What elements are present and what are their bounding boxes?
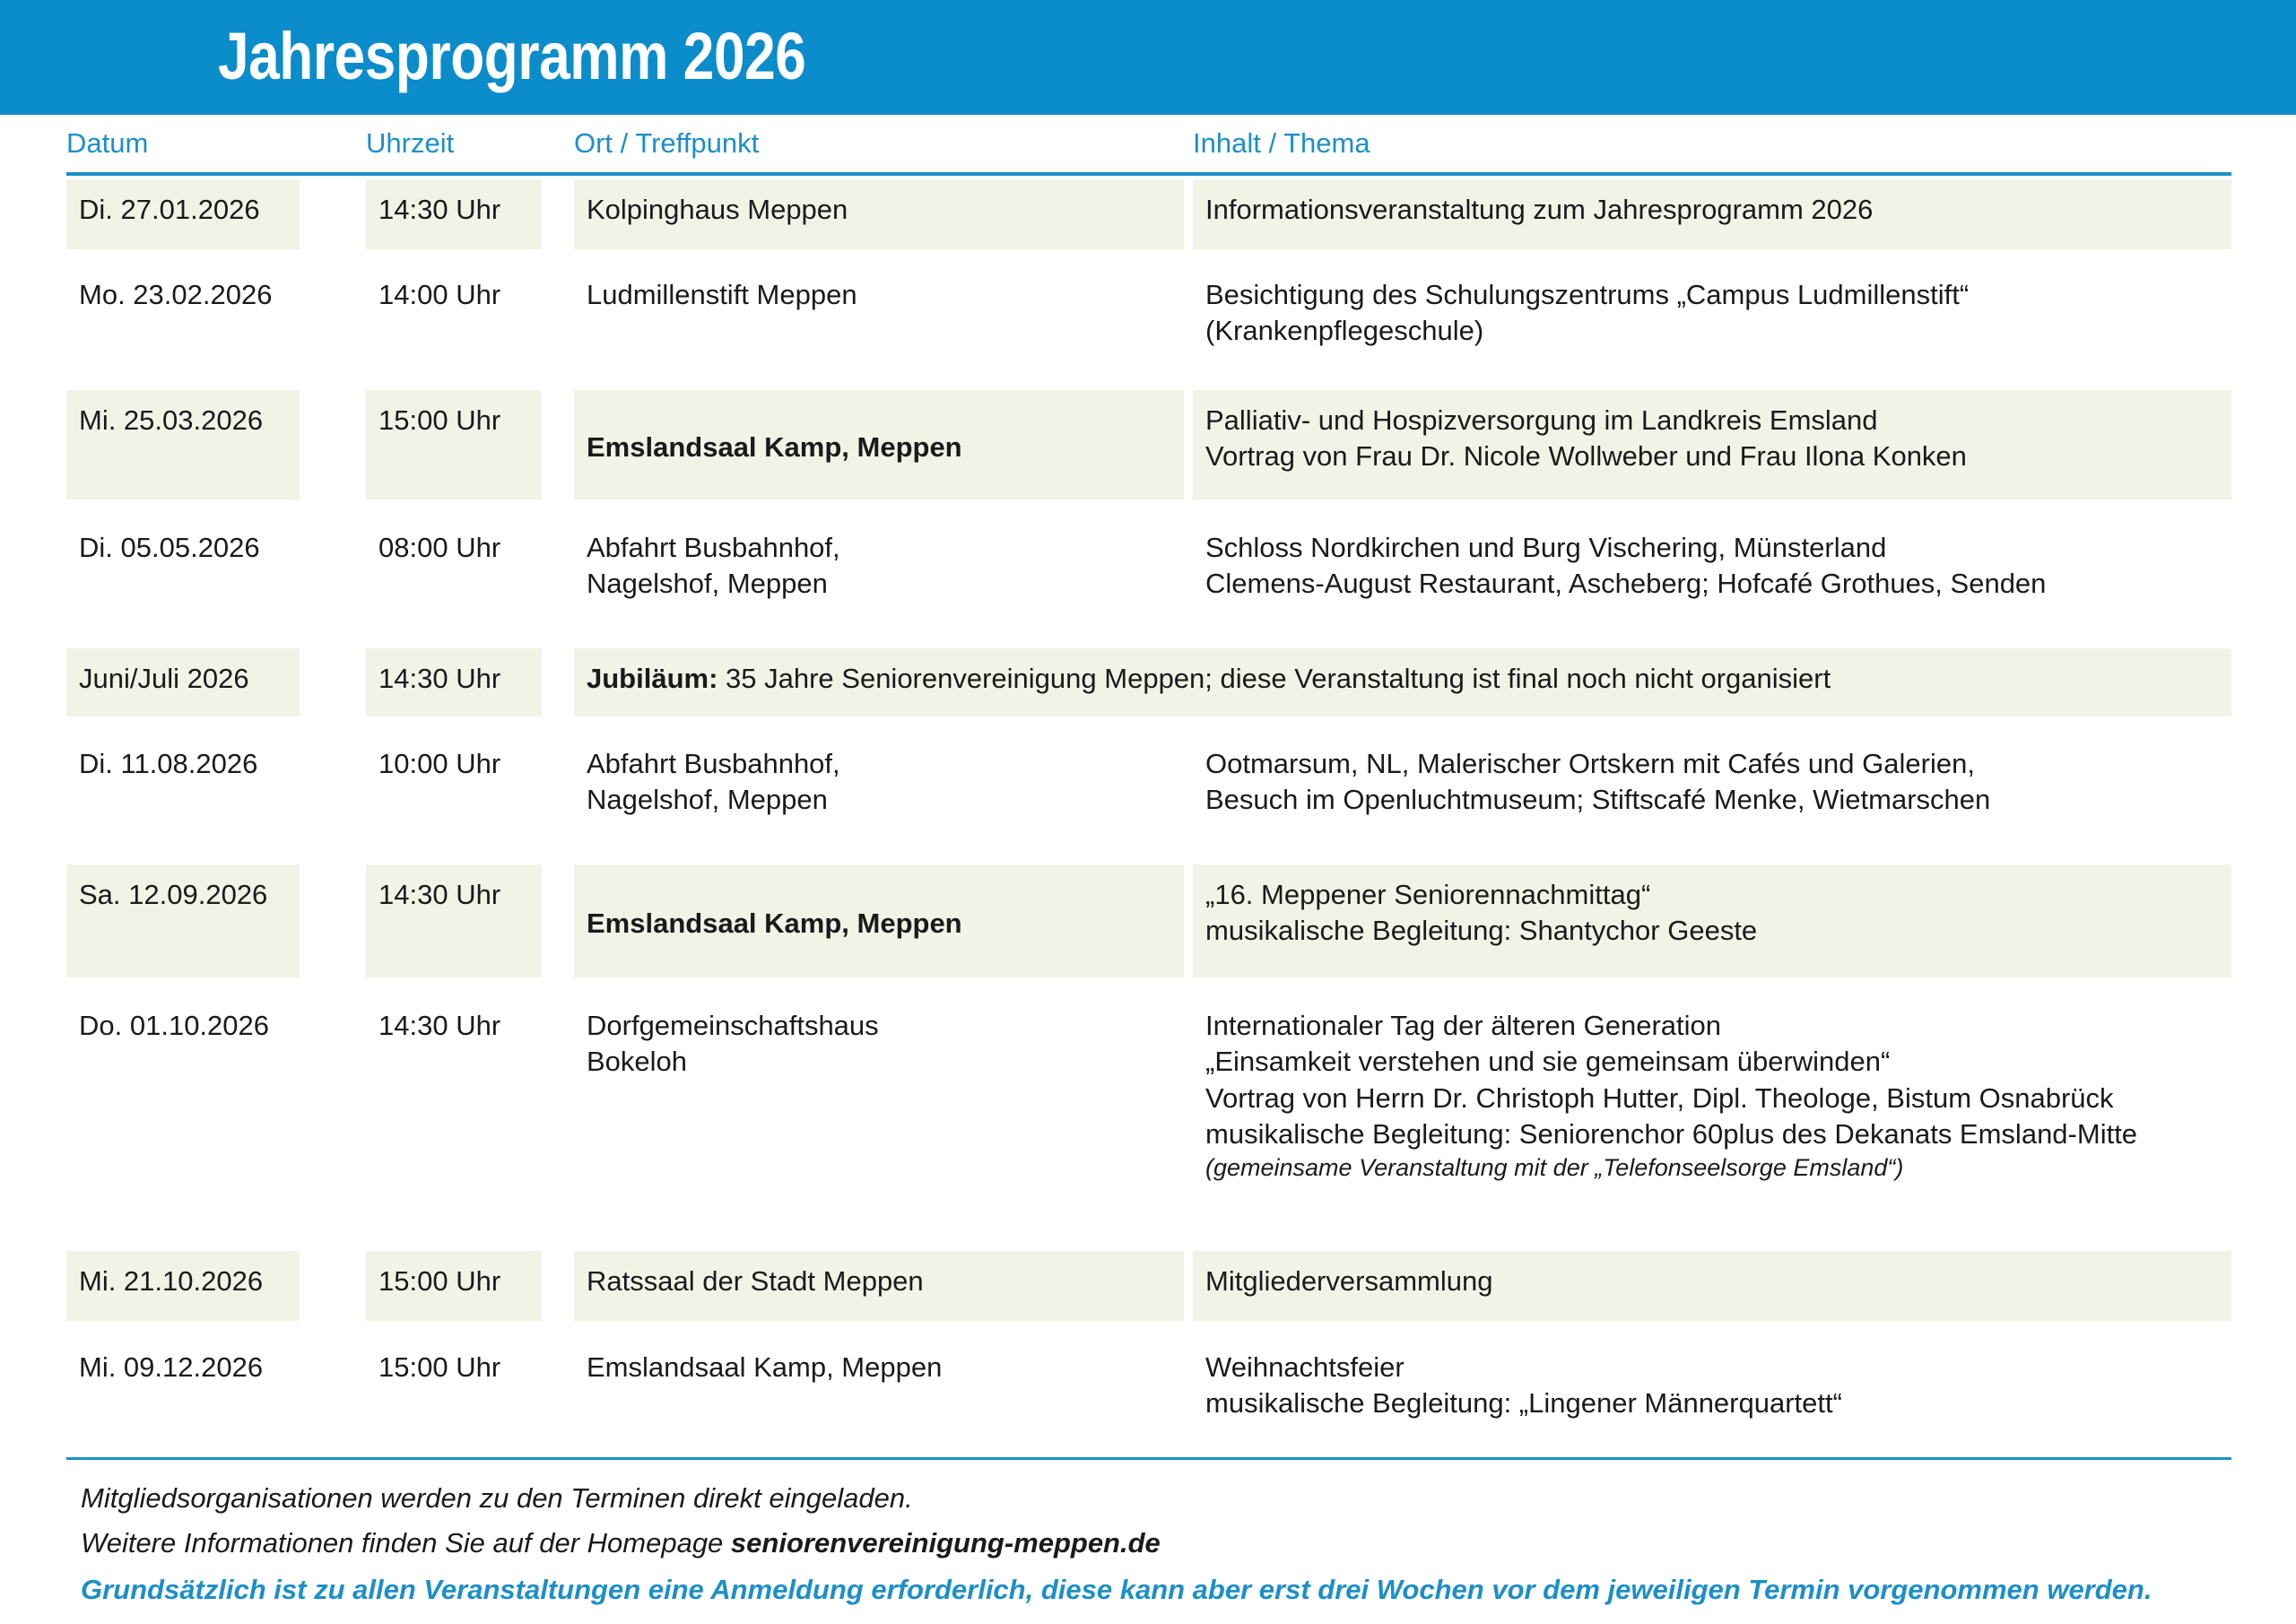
cell-date: Mi. 25.03.2026 (66, 390, 300, 499)
cell-date: Di. 05.05.2026 (66, 517, 300, 630)
content-line: (Krankenpflegeschule) (1205, 313, 2222, 349)
footer-line-2: Weitere Informationen finden Sie auf der… (81, 1524, 1161, 1562)
cell-date: Di. 27.01.2026 (66, 179, 300, 249)
footer-homepage-prefix: Weitere Informationen finden Sie auf der… (81, 1527, 731, 1559)
cell-date: Do. 01.10.2026 (66, 995, 300, 1233)
table-row: Mi. 25.03.2026 15:00 Uhr Emslandsaal Kam… (0, 390, 2296, 517)
content-line: Besuch im Openluchtmuseum; Stiftscafé Me… (1205, 782, 2222, 818)
table-row: Di. 05.05.2026 08:00 Uhr Abfahrt Busbahn… (0, 517, 2296, 648)
location-line: Abfahrt Busbahnhof, (587, 746, 1175, 782)
cell-date: Mi. 09.12.2026 (66, 1337, 300, 1436)
cell-content: Mitgliederversammlung (1193, 1251, 2231, 1321)
column-header-content: Inhalt / Thema (1193, 127, 1370, 160)
content-note: (gemeinsame Veranstaltung mit der „Telef… (1205, 1152, 2222, 1184)
cell-date: Juni/Juli 2026 (66, 648, 300, 716)
cell-content: Ootmarsum, NL, Malerischer Ortskern mit … (1193, 734, 2231, 847)
header-rule (66, 172, 2231, 176)
cell-date: Mi. 21.10.2026 (66, 1251, 300, 1321)
table-row: Sa. 12.09.2026 14:30 Uhr Emslandsaal Kam… (0, 864, 2296, 995)
page-title: Jahresprogramm 2026 (218, 18, 805, 94)
location-line: Nagelshof, Meppen (587, 782, 1175, 818)
location-line: Abfahrt Busbahnhof, (587, 530, 1175, 566)
table-row: Do. 01.10.2026 14:30 Uhr Dorfgemeinschaf… (0, 995, 2296, 1251)
program-flyer: Jahresprogramm 2026 Datum Uhrzeit Ort / … (0, 0, 2296, 1624)
program-table: Datum Uhrzeit Ort / Treffpunkt Inhalt / … (0, 115, 2296, 1452)
jubilee-label: Jubiläum: (587, 663, 717, 694)
content-line: Besichtigung des Schulungszentrums „Camp… (1205, 277, 2222, 313)
content-line: musikalische Begleitung: Seniorenchor 60… (1205, 1116, 2222, 1152)
cell-location: Ludmillenstift Meppen (574, 265, 1184, 372)
cell-time: 14:30 Uhr (366, 179, 542, 249)
cell-time: 14:30 Uhr (366, 648, 542, 716)
cell-location: Abfahrt Busbahnhof, Nagelshof, Meppen (574, 517, 1184, 630)
content-line: Clemens-August Restaurant, Ascheberg; Ho… (1205, 566, 2222, 602)
table-row: Mo. 23.02.2026 14:00 Uhr Ludmillenstift … (0, 265, 2296, 390)
cell-content: „16. Meppener Seniorennachmittag“ musika… (1193, 864, 2231, 977)
column-header-time: Uhrzeit (366, 127, 454, 160)
footer-line-1: Mitgliedsorganisationen werden zu den Te… (81, 1480, 913, 1517)
cell-time: 15:00 Uhr (366, 1337, 542, 1436)
cell-time: 15:00 Uhr (366, 390, 542, 499)
cell-date: Sa. 12.09.2026 (66, 864, 300, 977)
cell-time: 08:00 Uhr (366, 517, 542, 630)
cell-content: Informationsveranstaltung zum Jahresprog… (1193, 179, 2231, 249)
cell-content: Palliativ- und Hospizversorgung im Landk… (1193, 390, 2231, 499)
column-header-location: Ort / Treffpunkt (574, 127, 759, 160)
footer-homepage-url[interactable]: seniorenvereinigung-meppen.de (731, 1527, 1161, 1559)
cell-content: Weihnachtsfeier musikalische Begleitung:… (1193, 1337, 2231, 1436)
cell-location: Abfahrt Busbahnhof, Nagelshof, Meppen (574, 734, 1184, 847)
table-row: Juni/Juli 2026 14:30 Uhr Jubiläum: 35 Ja… (0, 648, 2296, 734)
cell-location: Ratssaal der Stadt Meppen (574, 1251, 1184, 1321)
cell-location: Kolpinghaus Meppen (574, 179, 1184, 249)
table-row: Di. 27.01.2026 14:30 Uhr Kolpinghaus Mep… (0, 179, 2296, 265)
footer-rule (66, 1457, 2231, 1460)
title-banner: Jahresprogramm 2026 (0, 0, 2296, 115)
table-row: Di. 11.08.2026 10:00 Uhr Abfahrt Busbahn… (0, 734, 2296, 864)
table-row: Mi. 21.10.2026 15:00 Uhr Ratssaal der St… (0, 1251, 2296, 1337)
column-header-date: Datum (66, 127, 148, 160)
cell-location: Emslandsaal Kamp, Meppen (574, 390, 1184, 499)
cell-content: Internationaler Tag der älteren Generati… (1193, 995, 2231, 1233)
cell-date: Di. 11.08.2026 (66, 734, 300, 847)
location-line: Bokeloh (587, 1044, 1175, 1080)
content-line: Weihnachtsfeier (1205, 1350, 2222, 1385)
content-line: „Einsamkeit verstehen und sie gemeinsam … (1205, 1044, 2222, 1080)
cell-date: Mo. 23.02.2026 (66, 265, 300, 372)
cell-time: 14:30 Uhr (366, 864, 542, 977)
cell-time: 14:00 Uhr (366, 265, 542, 372)
cell-location: Emslandsaal Kamp, Meppen (574, 1337, 1184, 1436)
content-line: Ootmarsum, NL, Malerischer Ortskern mit … (1205, 746, 2222, 782)
location-line: Nagelshof, Meppen (587, 566, 1175, 602)
cell-time: 15:00 Uhr (366, 1251, 542, 1321)
location-line: Dorfgemeinschaftshaus (587, 1008, 1175, 1044)
cell-time: 10:00 Uhr (366, 734, 542, 847)
cell-merged-content: Jubiläum: 35 Jahre Seniorenvereinigung M… (574, 648, 2231, 716)
table-header-row: Datum Uhrzeit Ort / Treffpunkt Inhalt / … (0, 115, 2296, 179)
cell-content: Schloss Nordkirchen und Burg Vischering,… (1193, 517, 2231, 630)
content-line: Vortrag von Herrn Dr. Christoph Hutter, … (1205, 1081, 2222, 1116)
cell-content: Besichtigung des Schulungszentrums „Camp… (1193, 265, 2231, 372)
content-line: Vortrag von Frau Dr. Nicole Wollweber un… (1205, 439, 2222, 474)
content-line: musikalische Begleitung: Shantychor Gees… (1205, 913, 2222, 949)
content-line: Palliativ- und Hospizversorgung im Landk… (1205, 403, 2222, 439)
cell-location: Emslandsaal Kamp, Meppen (574, 864, 1184, 977)
content-line: musikalische Begleitung: „Lingener Männe… (1205, 1385, 2222, 1421)
cell-time: 14:30 Uhr (366, 995, 542, 1233)
content-line: „16. Meppener Seniorennachmittag“ (1205, 877, 2222, 913)
footer-line-3-notice: Grundsätzlich ist zu allen Veranstaltung… (81, 1571, 2152, 1609)
cell-location: Dorfgemeinschaftshaus Bokeloh (574, 995, 1184, 1233)
content-line: Schloss Nordkirchen und Burg Vischering,… (1205, 530, 2222, 566)
content-line: Internationaler Tag der älteren Generati… (1205, 1008, 2222, 1044)
table-row: Mi. 09.12.2026 15:00 Uhr Emslandsaal Kam… (0, 1337, 2296, 1452)
jubilee-text: 35 Jahre Seniorenvereinigung Meppen; die… (717, 663, 1831, 694)
